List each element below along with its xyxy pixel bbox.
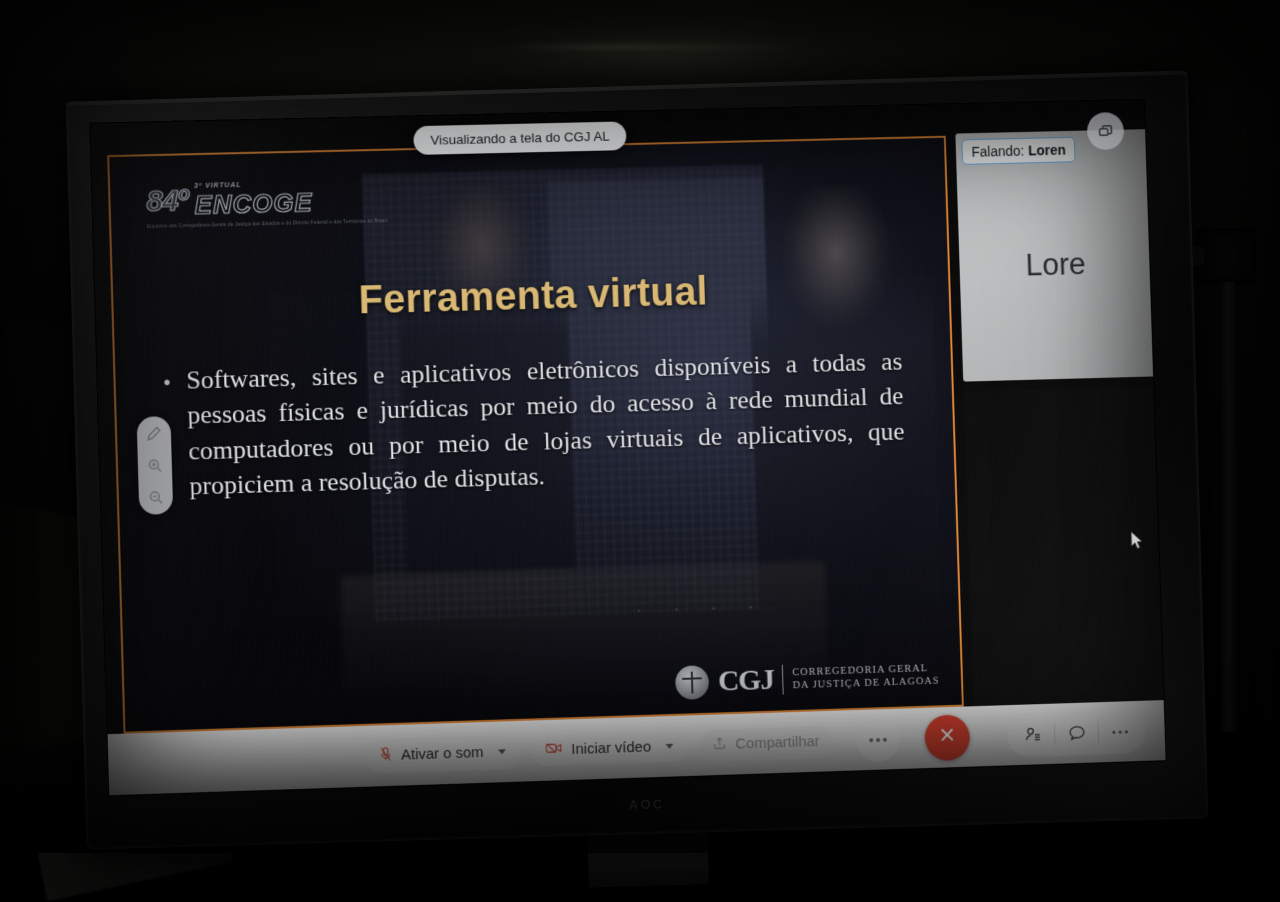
speaking-badge: Falando: Loren xyxy=(961,137,1075,165)
participant-name: Lore xyxy=(959,245,1152,285)
viewing-screen-pill[interactable]: Visualizando a tela do CGJ AL xyxy=(413,121,627,155)
monitor-brand-logo: AOC xyxy=(629,796,665,812)
video-label: Iniciar vídeo xyxy=(571,739,651,759)
participants-icon[interactable] xyxy=(1011,717,1055,752)
cgj-fulltext: CORREGEDORIA GERAL DA JUSTIÇA DE ALAGOAS xyxy=(792,662,940,693)
more-horizontal-icon[interactable] xyxy=(1098,714,1142,749)
microphone-muted-icon xyxy=(379,745,392,765)
video-button[interactable]: Iniciar vídeo xyxy=(532,730,688,766)
chat-bubble-icon[interactable] xyxy=(1055,716,1099,751)
more-options-button[interactable] xyxy=(856,717,900,762)
encoge-logo: 84º 3º VIRTUAL ENCOGE Encontro dos Corre… xyxy=(146,178,387,229)
video-chevron-down-icon[interactable] xyxy=(666,744,674,749)
cgj-mark: CGJ xyxy=(718,665,775,697)
zoom-in-icon[interactable] xyxy=(147,457,163,473)
more-dot xyxy=(876,737,880,741)
slide-body-text: Softwares, sites e aplicativos eletrônic… xyxy=(186,344,906,504)
zoom-out-icon[interactable] xyxy=(148,489,164,505)
share-screen-icon xyxy=(713,736,727,754)
cgj-line-2: DA JUSTIÇA DE ALAGOAS xyxy=(793,676,940,692)
encoge-logo-name: ENCOGE xyxy=(194,189,313,218)
ceiling-light-fixture xyxy=(505,44,805,50)
monitor-screen: 84º 3º VIRTUAL ENCOGE Encontro dos Corre… xyxy=(90,100,1165,796)
ceiling-light-glow xyxy=(470,22,850,82)
monitor: AOC 84º xyxy=(66,70,1208,849)
speaking-label: Falando: xyxy=(971,143,1024,160)
share-button[interactable]: Compartilhar xyxy=(699,725,834,761)
presentation-slide: 84º 3º VIRTUAL ENCOGE Encontro dos Corre… xyxy=(109,138,962,732)
screen-share-side-tools[interactable] xyxy=(137,416,174,515)
participant-strip: Falando: Loren Lore xyxy=(945,100,1164,707)
cgj-divider xyxy=(782,665,784,695)
speaking-name: Loren xyxy=(1028,142,1066,159)
shared-screen-region[interactable]: 84º 3º VIRTUAL ENCOGE Encontro dos Corre… xyxy=(107,136,964,734)
more-dot xyxy=(869,738,873,742)
annotate-pen-icon[interactable] xyxy=(146,425,162,441)
tripod-pole xyxy=(1221,282,1238,732)
encoge-logo-number: 84º xyxy=(146,184,188,219)
audio-button[interactable]: Ativar o som xyxy=(365,734,521,773)
mouse-cursor xyxy=(1130,530,1145,557)
audio-label: Ativar o som xyxy=(401,744,484,764)
camera-off-icon xyxy=(546,741,563,758)
audio-chevron-down-icon[interactable] xyxy=(498,749,506,754)
more-dot xyxy=(883,737,887,741)
leave-meeting-button[interactable] xyxy=(924,714,970,761)
participant-video-tile[interactable]: Falando: Loren Lore xyxy=(955,129,1155,381)
tripod-head xyxy=(1196,228,1256,284)
toolbar-right-group xyxy=(1007,709,1146,757)
close-x-icon xyxy=(937,725,957,750)
cgj-scales-seal-icon xyxy=(675,665,709,700)
slide-body: • Softwares, sites e aplicativos eletrôn… xyxy=(163,344,906,505)
share-label: Compartilhar xyxy=(735,733,820,753)
zoom-meeting-window: 84º 3º VIRTUAL ENCOGE Encontro dos Corre… xyxy=(90,100,1165,796)
